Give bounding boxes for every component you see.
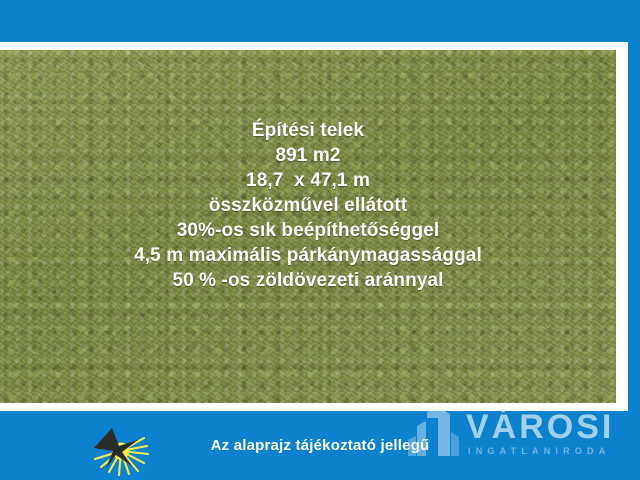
- property-spec-text: Építési telek 891 m2 18,7 x 47,1 m összk…: [0, 118, 616, 293]
- right-blue-edge: [628, 0, 640, 480]
- slide-canvas: Építési telek 891 m2 18,7 x 47,1 m összk…: [0, 0, 640, 480]
- spec-line-height: 4,5 m maximális párkánymagassággal: [0, 243, 616, 268]
- spec-line-green-ratio: 50 % -os zöldövezeti aránnyal: [0, 268, 616, 293]
- spec-line-title: Építési telek: [0, 118, 616, 143]
- bottom-white-gutter: [0, 403, 640, 411]
- spec-line-area: 891 m2: [0, 143, 616, 168]
- top-banner: [0, 0, 640, 42]
- footer-caption: Az alaprajz tájékoztató jellegű: [0, 437, 640, 454]
- top-white-gutter: [0, 42, 640, 50]
- spec-line-coverage: 30%-os sık beépíthetőséggel: [0, 218, 616, 243]
- spec-line-dimensions: 18,7 x 47,1 m: [0, 168, 616, 193]
- right-white-gutter: [616, 42, 628, 411]
- spec-line-utilities: összközművel ellátott: [0, 193, 616, 218]
